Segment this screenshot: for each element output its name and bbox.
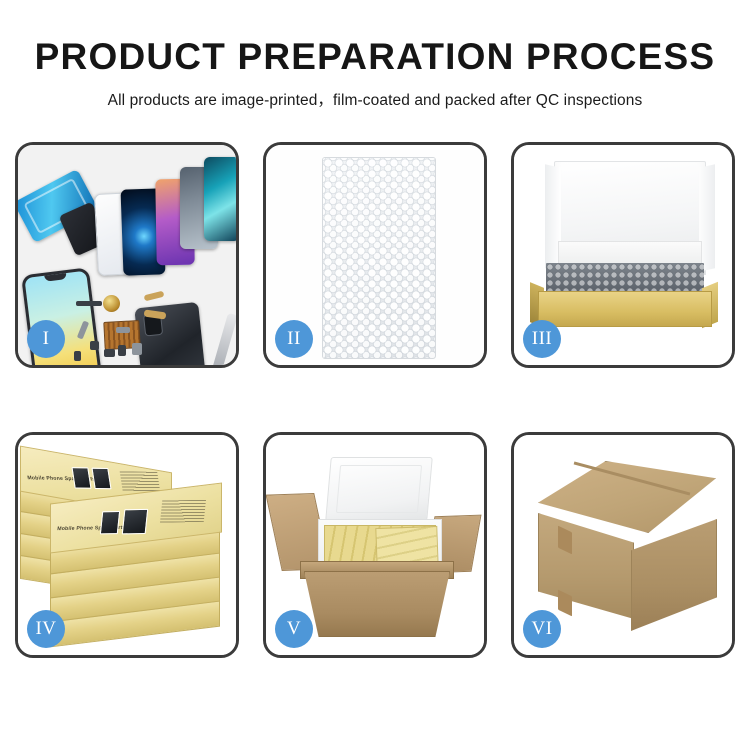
small-part-4 [132, 343, 142, 355]
speaker-strip [76, 301, 102, 306]
step-badge-5: V [275, 610, 313, 648]
box-label-lines-front [160, 500, 206, 523]
small-part-5 [74, 351, 81, 361]
foam-box-lid [325, 457, 433, 521]
carton-body [304, 571, 450, 637]
small-part-2 [104, 349, 115, 357]
process-step-panel-5: V [263, 432, 487, 658]
step-badge-6: VI [523, 610, 561, 648]
bubble-texture [323, 158, 435, 358]
box-label-swatch-front-2 [122, 509, 148, 535]
bubble-wrap-bag [322, 157, 436, 359]
box-label-swatch-front-1 [100, 511, 120, 534]
step-badge-3: III [523, 320, 561, 358]
process-step-panel-6: VI [511, 432, 735, 658]
page-subtitle: All products are image-printed，film-coat… [0, 88, 750, 110]
process-steps-grid: I II [15, 142, 735, 658]
header: PRODUCT PREPARATION PROCESS All products… [0, 38, 750, 110]
box-label-swatch-rear-1 [71, 467, 91, 489]
small-part-3 [118, 345, 126, 356]
gold-coil-component [103, 295, 120, 312]
process-step-panel-1: I [15, 142, 239, 368]
process-step-panel-2: II [263, 142, 487, 368]
box-label-swatch-rear-2 [91, 468, 111, 490]
step-badge-4: IV [27, 610, 65, 648]
step-badge-1: I [27, 320, 65, 358]
product-preparation-process-page: PRODUCT PREPARATION PROCESS All products… [0, 0, 750, 750]
process-step-panel-3: III [511, 142, 735, 368]
box-label-lines-rear [120, 471, 161, 492]
page-title: PRODUCT PREPARATION PROCESS [0, 38, 750, 77]
small-part-1 [90, 341, 99, 350]
small-part-6 [116, 327, 130, 333]
process-step-panel-4: Mobile Phone Spare Parts Mobile Phone Sp… [15, 432, 239, 658]
step-badge-2: II [275, 320, 313, 358]
teal-ribbon-screen [204, 157, 236, 241]
yellow-box-front [538, 291, 712, 327]
